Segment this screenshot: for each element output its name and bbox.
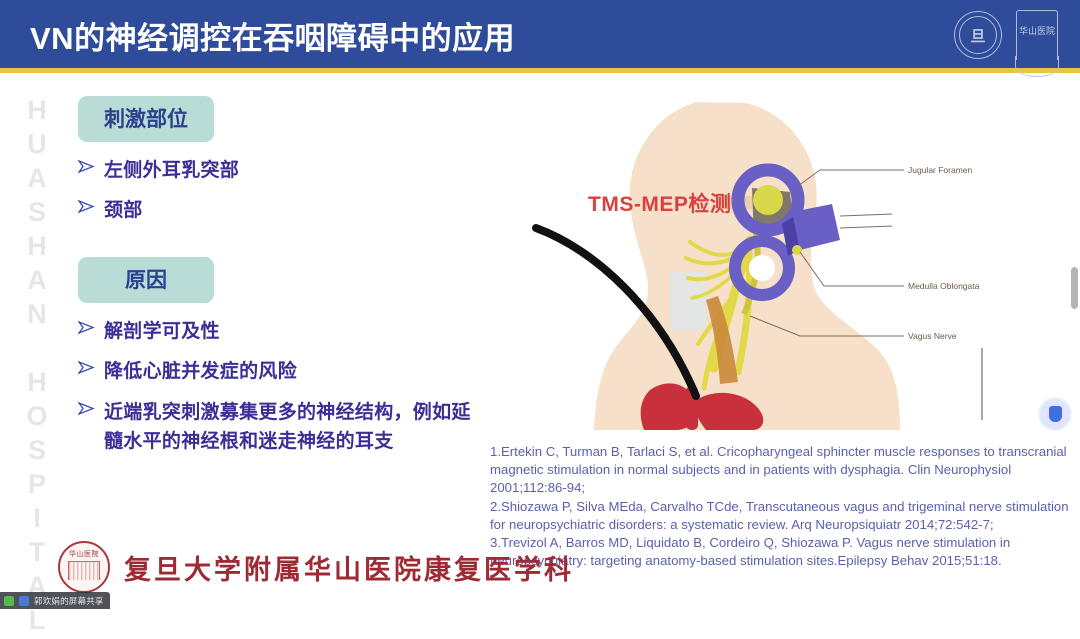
label-vagus-nerve: Vagus Nerve — [908, 331, 957, 341]
fudan-seal-text: 旦 — [955, 12, 1001, 58]
head-anatomy-diagram: Jugular Foramen Medulla Oblongata Vagus … — [500, 100, 1040, 430]
page-scrollbar[interactable] — [1071, 75, 1078, 595]
bullet-list-stimulation-site: 左侧外耳乳突部 颈部 — [78, 156, 478, 226]
slide-footer: 华山医院 复旦大学附属华山医院康复医学科 — [58, 541, 574, 593]
list-item-label: 降低心脏并发症的风险 — [104, 357, 297, 386]
floating-shield-button[interactable] — [1040, 399, 1070, 429]
label-jugular-foramen: Jugular Foramen — [908, 165, 973, 175]
huashan-hospital-crest-icon: 华山医院 — [1016, 10, 1058, 60]
reference-item: 3.Trevizol A, Barros MD, Liquidato B, Co… — [490, 534, 1075, 570]
bullet-list-reason: 解剖学可及性 降低心脏并发症的风险 近端乳突刺激募集更多的神经结构，例如延髓水平… — [78, 317, 478, 457]
tms-mep-caption-text: TMS-MEP检测 — [588, 193, 731, 216]
tms-mep-caption: TMS-MEP检测 — [588, 188, 731, 218]
screen-share-indicator[interactable]: 郭欢娟的屏幕共享 — [0, 592, 110, 609]
list-item-label: 近端乳突刺激募集更多的神经结构，例如延髓水平的神经根和迷走神经的耳支 — [104, 398, 478, 457]
seal-label: 华山医院 — [60, 549, 108, 559]
screen-icon — [19, 596, 29, 606]
list-item: 降低心脏并发症的风险 — [78, 357, 478, 386]
arrow-bullet-icon — [78, 317, 104, 334]
reference-list: 1.Ertekin C, Turman B, Tarlaci S, et al.… — [490, 443, 1075, 571]
list-item-label: 解剖学可及性 — [104, 317, 220, 346]
huashan-crest-text: 华山医院 — [1017, 24, 1057, 37]
screen-share-label: 郭欢娟的屏幕共享 — [34, 595, 104, 607]
section-heading-reason: 原因 — [78, 257, 214, 303]
page-title: VN的神经调控在吞咽障碍中的应用 — [30, 13, 515, 58]
section-heading-stimulation-site: 刺激部位 — [78, 96, 214, 142]
organization-name: 复旦大学附属华山医院康复医学科 — [124, 548, 574, 587]
list-item: 解剖学可及性 — [78, 317, 478, 346]
arrow-bullet-icon — [78, 156, 104, 173]
fudan-university-seal-icon: 旦 — [954, 11, 1002, 59]
anatomical-illustration: Jugular Foramen Medulla Oblongata Vagus … — [500, 100, 1040, 430]
reference-item: 1.Ertekin C, Turman B, Tarlaci S, et al.… — [490, 443, 1075, 498]
list-item: 颈部 — [78, 196, 478, 225]
header-logo-group: 旦 华山医院 — [954, 10, 1058, 60]
label-medulla-oblongata: Medulla Oblongata — [908, 281, 980, 291]
slide-canvas: VN的神经调控在吞咽障碍中的应用 旦 华山医院 HUASHAN HOSPITAL… — [0, 0, 1080, 609]
arrow-bullet-icon — [78, 398, 104, 415]
list-item: 左侧外耳乳突部 — [78, 156, 478, 185]
list-item: 近端乳突刺激募集更多的神经结构，例如延髓水平的神经根和迷走神经的耳支 — [78, 398, 478, 457]
huashan-hospital-watermark: HUASHAN HOSPITAL — [4, 95, 50, 639]
list-item-label: 左侧外耳乳突部 — [104, 156, 239, 185]
arrow-bullet-icon — [78, 357, 104, 374]
scrollbar-thumb[interactable] — [1071, 267, 1078, 309]
shield-icon — [1049, 406, 1062, 422]
header-accent-stripe — [0, 68, 1080, 73]
section-spacer — [78, 237, 478, 257]
arrow-bullet-icon — [78, 196, 104, 213]
list-item-label: 颈部 — [104, 196, 143, 225]
reference-item: 2.Shiozawa P, Silva MEda, Carvalho TCde,… — [490, 498, 1075, 534]
content-column-left: 刺激部位 左侧外耳乳突部 颈部 原因 解剖学可及性 — [78, 96, 478, 468]
huashan-hospital-seal-icon: 华山医院 — [58, 541, 110, 593]
share-active-icon — [4, 596, 14, 606]
